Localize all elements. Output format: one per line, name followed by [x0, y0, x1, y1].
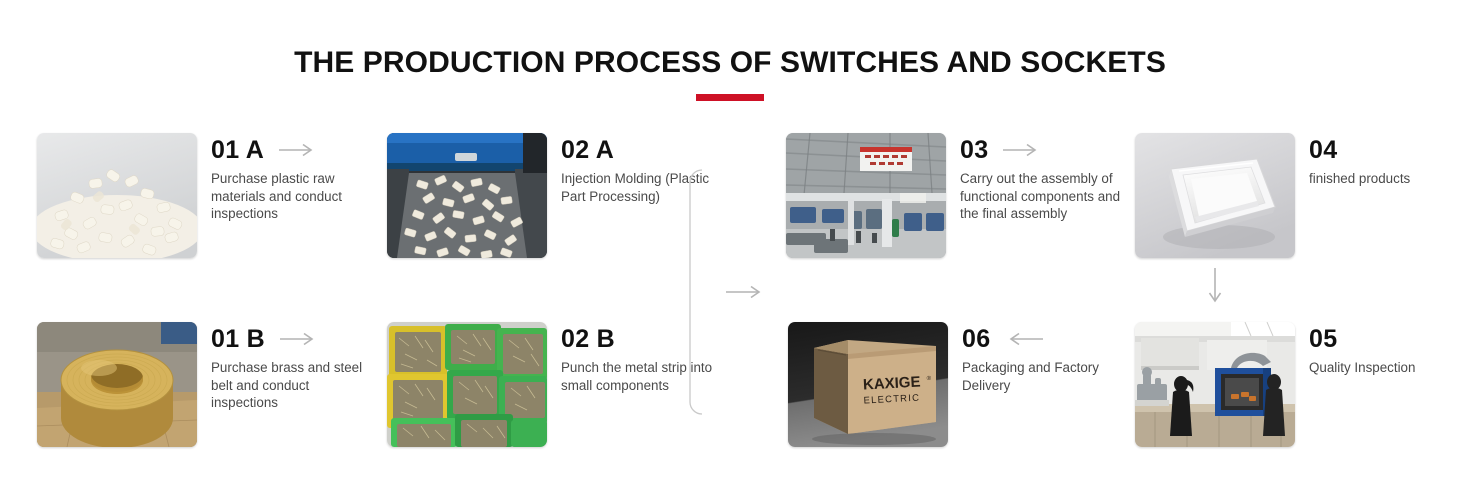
step-06-description: Packaging and Factory Delivery [962, 359, 1127, 394]
step-01b-number: 01 B [211, 325, 265, 353]
step-01a-caption: 01 A Purchase plastic raw materials and … [211, 133, 376, 223]
step-02a-numrow: 02 A [561, 135, 726, 165]
plastic-pellets-photo [37, 133, 197, 258]
step-03-number: 03 [960, 136, 988, 164]
step-02b[interactable]: 02 B Punch the metal strip into small co… [387, 322, 726, 447]
metal-components-crates-photo [387, 322, 547, 447]
arrow-right-icon [279, 332, 319, 346]
step-01a-description: Purchase plastic raw materials and condu… [211, 170, 376, 223]
quality-inspection-lab-photo [1135, 322, 1295, 447]
packaging-carton-photo: KAXIGE ® ELECTRIC [788, 322, 948, 447]
arrow-down-icon [1200, 266, 1230, 310]
step-01b-caption: 01 B Purchase brass and steel belt and c… [211, 322, 376, 412]
brass-coil-photo [37, 322, 197, 447]
step-04[interactable]: 04 finished products [1135, 133, 1459, 258]
finished-switch-photo [1135, 133, 1295, 258]
step-01a-number: 01 A [211, 136, 264, 164]
step-02a-number: 02 A [561, 136, 614, 164]
title-block: THE PRODUCTION PROCESS OF SWITCHES AND S… [0, 44, 1460, 101]
step-04-numrow: 04 [1309, 135, 1459, 165]
step-03-caption: 03 Carry out the assembly of functional … [960, 133, 1135, 223]
arrow-right-icon [726, 287, 759, 298]
step-01a-numrow: 01 A [211, 135, 376, 165]
step-05-numrow: 05 [1309, 324, 1459, 354]
step-01a[interactable]: 01 A Purchase plastic raw materials and … [37, 133, 376, 258]
step-04-number: 04 [1309, 136, 1337, 164]
step-05-number: 05 [1309, 325, 1337, 353]
step-06[interactable]: KAXIGE ® ELECTRIC 06 Packaging and Facto… [788, 322, 1127, 447]
step-01b-description: Purchase brass and steel belt and conduc… [211, 359, 376, 412]
step-02b-number: 02 B [561, 325, 615, 353]
step-05-description: Quality Inspection [1309, 359, 1459, 377]
step-03-description: Carry out the assembly of functional com… [960, 170, 1135, 223]
title-accent-underline [696, 94, 764, 101]
merge-bracket-connector [688, 168, 778, 416]
arrow-right-icon [1002, 143, 1042, 157]
arrow-right-icon [278, 143, 318, 157]
page-title: THE PRODUCTION PROCESS OF SWITCHES AND S… [0, 44, 1460, 82]
step-06-caption: 06 Packaging and Factory Delivery [962, 322, 1127, 394]
carton-brand-name: KAXIGE [863, 374, 921, 394]
step-04-caption: 04 finished products [1309, 133, 1459, 188]
step-05[interactable]: 05 Quality Inspection [1135, 322, 1459, 447]
step-05-caption: 05 Quality Inspection [1309, 322, 1459, 377]
step-04-description: finished products [1309, 170, 1459, 188]
step-06-numrow: 06 [962, 324, 1127, 354]
step-02a[interactable]: 02 A Injection Molding (Plastic Part Pro… [387, 133, 726, 258]
step-01b-numrow: 01 B [211, 324, 376, 354]
injection-molding-photo [387, 133, 547, 258]
step-03[interactable]: 03 Carry out the assembly of functional … [786, 133, 1135, 258]
step-03-numrow: 03 [960, 135, 1135, 165]
step-06-number: 06 [962, 325, 990, 353]
step-01b[interactable]: 01 B Purchase brass and steel belt and c… [37, 322, 376, 447]
arrow-left-icon [1004, 332, 1044, 346]
assembly-workshop-photo [786, 133, 946, 258]
